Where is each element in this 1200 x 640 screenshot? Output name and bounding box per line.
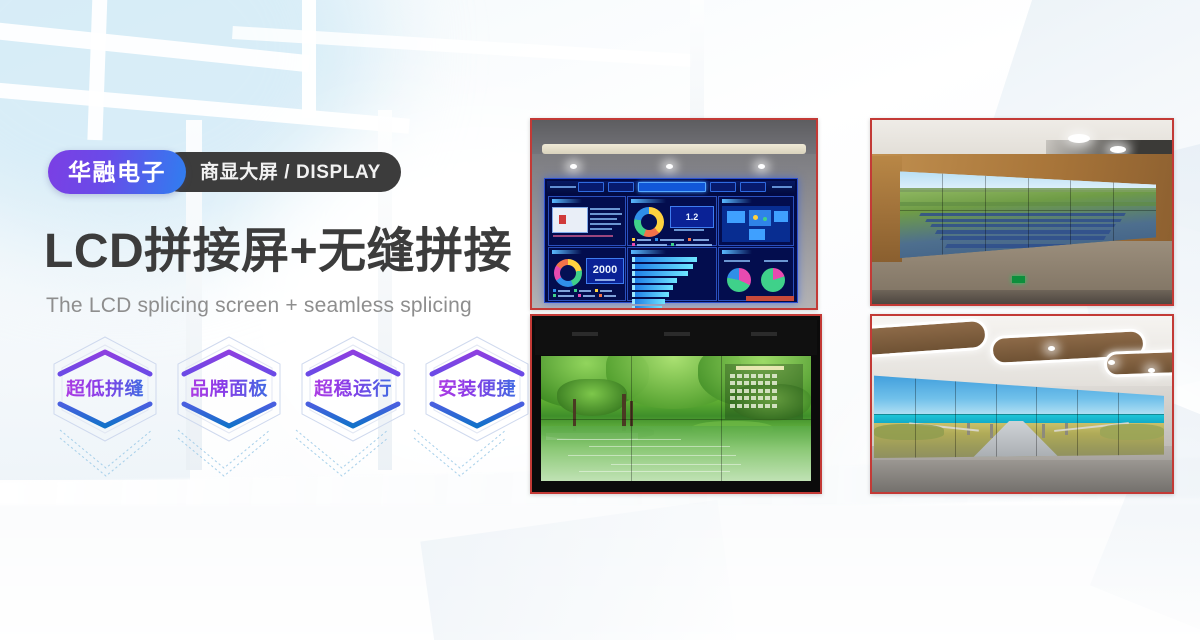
- dashboard-kpi-2: 1.2: [686, 213, 699, 222]
- feature-badge[interactable]: 安装便捷: [418, 333, 536, 445]
- page-subtitle: The LCD splicing screen + seamless splic…: [46, 295, 472, 316]
- feature-badge-label: 超低拼缝: [46, 380, 164, 399]
- photo-solar-farm-video-wall[interactable]: [870, 118, 1174, 306]
- dashboard-screen: 1.2: [544, 178, 798, 303]
- photo-dashboard-video-wall[interactable]: 1.2: [530, 118, 818, 310]
- category-pill-label: 商显大屏 / DISPLAY: [200, 163, 381, 182]
- feature-badge[interactable]: 超低拼缝: [46, 333, 164, 445]
- feature-badge[interactable]: 超稳运行: [294, 333, 412, 445]
- brand-badge-row: 华融电子 商显大屏 / DISPLAY: [48, 150, 401, 194]
- feature-badge-label: 品牌面板: [170, 380, 288, 399]
- dashboard-kpi-1: 2000: [593, 265, 617, 276]
- page-title: LCD拼接屏+无缝拼接: [44, 228, 512, 276]
- brand-pill[interactable]: 华融电子: [48, 150, 186, 194]
- willow-lake-screen: [541, 356, 812, 481]
- promo-banner: 华融电子 商显大屏 / DISPLAY LCD拼接屏+无缝拼接 The LCD …: [0, 0, 1200, 640]
- photo-beach-boardwalk-video-wall[interactable]: [870, 314, 1174, 494]
- feature-badge-label: 安装便捷: [418, 380, 536, 399]
- product-photo-grid: 1.2: [530, 118, 1170, 490]
- feature-badge[interactable]: 品牌面板: [170, 333, 288, 445]
- brand-pill-label: 华融电子: [68, 161, 166, 184]
- category-pill[interactable]: 商显大屏 / DISPLAY: [160, 152, 401, 192]
- photo-willow-lake-video-wall[interactable]: [530, 314, 822, 494]
- feature-badge-list: 超低拼缝 品牌面板 超稳运行: [46, 333, 536, 445]
- feature-badge-label: 超稳运行: [294, 380, 412, 399]
